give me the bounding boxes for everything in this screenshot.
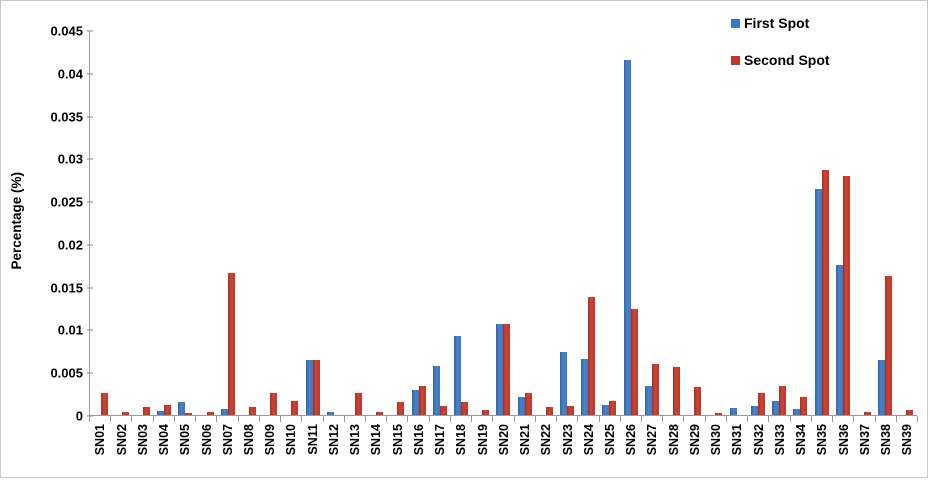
x-axis-tick-mark (365, 416, 366, 422)
bar-group (154, 31, 175, 415)
x-axis-tick-mark (535, 416, 536, 422)
x-axis-label-cell: SN02 (111, 424, 132, 476)
bar-group (111, 31, 132, 415)
bar-first-spot (878, 360, 885, 415)
bar-second-spot (313, 360, 320, 415)
bar-first-spot (815, 189, 822, 415)
x-axis-label-cell: SN28 (663, 424, 684, 476)
bar-second-spot (249, 407, 256, 415)
bar-second-spot (482, 410, 489, 415)
x-axis-tick-mark (896, 416, 897, 422)
bar-first-spot (602, 405, 609, 415)
x-axis-tick-label: SN25 (604, 424, 617, 455)
bar-group (514, 31, 535, 415)
bar-group (408, 31, 429, 415)
x-axis-tick-mark (280, 416, 281, 422)
bar-group (238, 31, 259, 415)
x-axis-tick-label: SN18 (455, 424, 468, 455)
x-axis-tick-label: SN06 (201, 424, 214, 455)
bar-second-spot (694, 387, 701, 415)
x-axis-label-cell: SN34 (791, 424, 812, 476)
x-axis-label-cell: SN14 (366, 424, 387, 476)
bar-first-spot (221, 409, 228, 415)
x-axis-label-cell: SN39 (897, 424, 918, 476)
x-axis-label-cell: SN15 (387, 424, 408, 476)
bar-group (896, 31, 917, 415)
x-axis-tick-label: SN05 (179, 424, 192, 455)
bar-second-spot (143, 407, 150, 415)
x-axis-tick-label: SN14 (370, 424, 383, 455)
x-axis-tick-mark (875, 416, 876, 422)
x-axis-label-cell: SN12 (324, 424, 345, 476)
x-axis-label-cell: SN21 (515, 424, 536, 476)
x-axis-tick-label: SN10 (285, 424, 298, 455)
x-axis-tick-mark (450, 416, 451, 422)
x-axis-tick-label: SN13 (349, 424, 362, 455)
legend-item[interactable]: First Spot (731, 15, 881, 31)
x-axis-tick-label: SN29 (689, 424, 702, 455)
x-axis-tick-mark (726, 416, 727, 422)
bar-second-spot (419, 386, 426, 415)
x-axis-tick-mark (89, 416, 90, 422)
x-axis-tick-label: SN20 (498, 424, 511, 455)
bar-group (599, 31, 620, 415)
x-axis-label-cell: SN07 (217, 424, 238, 476)
bar-group (132, 31, 153, 415)
x-axis-tick-mark (344, 416, 345, 422)
x-axis-label-cell: SN22 (536, 424, 557, 476)
bar-first-spot (730, 408, 737, 415)
bar-group (429, 31, 450, 415)
x-axis-tick-label: SN07 (222, 424, 235, 455)
bar-group (323, 31, 344, 415)
bar-second-spot (822, 170, 829, 415)
bar-group (175, 31, 196, 415)
bar-second-spot (715, 413, 722, 415)
bar-second-spot (588, 297, 595, 415)
bar-first-spot (518, 397, 525, 415)
x-axis-tick-label: SN30 (710, 424, 723, 455)
bar-group (620, 31, 641, 415)
bar-second-spot (228, 273, 235, 416)
bar-second-spot (270, 393, 277, 415)
chart-legend: First SpotSecond Spot (731, 15, 881, 89)
bar-second-spot (101, 393, 108, 415)
bar-first-spot (433, 366, 440, 415)
x-axis-label-cell: SN24 (578, 424, 599, 476)
x-axis-label-cell: SN08 (239, 424, 260, 476)
x-axis-tick-label: SN01 (94, 424, 107, 455)
bar-second-spot (546, 407, 553, 415)
bar-second-spot (906, 410, 913, 415)
x-axis-tick-label: SN17 (434, 424, 447, 455)
x-axis-label-cell: SN36 (833, 424, 854, 476)
x-axis-tick-mark (747, 416, 748, 422)
y-axis-tick-label: 0.015 (50, 281, 83, 294)
bar-group (556, 31, 577, 415)
x-axis-tick-mark (599, 416, 600, 422)
bar-group (641, 31, 662, 415)
x-axis-label-cell: SN32 (748, 424, 769, 476)
x-axis-tick-mark (811, 416, 812, 422)
x-axis-label-cell: SN16 (409, 424, 430, 476)
x-axis-tick-mark (514, 416, 515, 422)
bar-first-spot (306, 360, 313, 415)
x-axis-tick-mark (195, 416, 196, 422)
x-axis-tick-label: SN35 (816, 424, 829, 455)
legend-label: Second Spot (744, 52, 830, 68)
y-axis-tick-label: 0.04 (58, 67, 83, 80)
bar-first-spot (836, 265, 843, 415)
x-axis-tick-mark (556, 416, 557, 422)
bar-group (705, 31, 726, 415)
bar-second-spot (525, 393, 532, 415)
bar-group (684, 31, 705, 415)
bar-first-spot (624, 60, 631, 415)
bar-second-spot (397, 402, 404, 415)
bar-group (281, 31, 302, 415)
x-axis-tick-mark (238, 416, 239, 422)
x-axis-tick-label: SN28 (668, 424, 681, 455)
x-axis-label-cell: SN01 (90, 424, 111, 476)
x-axis-label-cell: SN26 (621, 424, 642, 476)
y-axis-tick-label: 0.005 (50, 367, 83, 380)
bar-group (366, 31, 387, 415)
x-axis-label-cell: SN09 (260, 424, 281, 476)
bar-second-spot (207, 412, 214, 415)
bar-first-spot (751, 406, 758, 415)
bar-second-spot (461, 402, 468, 415)
x-axis-tick-label: SN23 (562, 424, 575, 455)
x-axis-tick-mark (790, 416, 791, 422)
x-axis-tick-mark (768, 416, 769, 422)
x-axis-tick-mark (386, 416, 387, 422)
x-axis-label-cell: SN38 (876, 424, 897, 476)
x-axis-label-cell: SN31 (727, 424, 748, 476)
bar-group (450, 31, 471, 415)
bar-second-spot (779, 386, 786, 415)
x-axis-tick-mark (174, 416, 175, 422)
x-axis-label-cell: SN13 (345, 424, 366, 476)
bar-first-spot (772, 401, 779, 415)
x-axis-tick-mark (577, 416, 578, 422)
bar-group (493, 31, 514, 415)
x-axis-tick-mark (153, 416, 154, 422)
x-axis-label-cell: SN03 (132, 424, 153, 476)
x-axis-tick-mark (323, 416, 324, 422)
bar-group (662, 31, 683, 415)
x-axis-tick-label: SN12 (328, 424, 341, 455)
x-axis-tick-label: SN19 (477, 424, 490, 455)
legend-label: First Spot (744, 15, 809, 31)
x-axis-tick-mark (662, 416, 663, 422)
legend-swatch-icon (731, 19, 740, 28)
bar-first-spot (178, 402, 185, 415)
bar-group (387, 31, 408, 415)
legend-item[interactable]: Second Spot (731, 52, 881, 68)
bar-second-spot (758, 393, 765, 415)
y-axis-tick-labels: 0.0450.040.0350.030.0250.020.0150.010.00… (25, 1, 83, 421)
x-axis-tick-mark (620, 416, 621, 422)
x-axis-tick-mark (407, 416, 408, 422)
y-axis-tick-label: 0.025 (50, 196, 83, 209)
bar-first-spot (645, 386, 652, 415)
y-axis-title-text: Percentage (%) (9, 172, 24, 270)
bar-second-spot (864, 412, 871, 415)
x-axis-label-cell: SN11 (302, 424, 323, 476)
x-axis-label-cell: SN19 (472, 424, 493, 476)
bar-second-spot (185, 413, 192, 415)
bar-first-spot (412, 390, 419, 415)
bar-second-spot (800, 397, 807, 415)
x-axis-tick-label: SN22 (540, 424, 553, 455)
x-axis-tick-mark (917, 416, 918, 422)
bar-second-spot (885, 276, 892, 415)
x-axis-tick-mark (429, 416, 430, 422)
x-axis-tick-label: SN32 (753, 424, 766, 455)
x-axis-label-cell: SN17 (430, 424, 451, 476)
x-axis-tick-mark (641, 416, 642, 422)
bar-second-spot (122, 412, 129, 415)
x-axis-label-cell: SN04 (154, 424, 175, 476)
x-axis-tick-labels: SN01SN02SN03SN04SN05SN06SN07SN08SN09SN10… (90, 424, 918, 476)
y-axis-tick-label: 0.03 (58, 153, 83, 166)
bar-second-spot (652, 364, 659, 415)
y-axis-tick-label: 0.045 (50, 25, 83, 38)
y-axis-tick-label: 0 (76, 410, 83, 423)
bar-second-spot (609, 401, 616, 415)
x-axis-tick-mark (705, 416, 706, 422)
x-axis-label-cell: SN18 (451, 424, 472, 476)
bar-first-spot (793, 409, 800, 415)
x-axis-tick-label: SN27 (646, 424, 659, 455)
y-axis-tick-label: 0.035 (50, 110, 83, 123)
legend-swatch-icon (731, 56, 740, 65)
bar-second-spot (164, 405, 171, 415)
bar-chart: Percentage (%) 0.0450.040.0350.030.0250.… (0, 0, 928, 478)
x-axis-tick-label: SN15 (392, 424, 405, 455)
x-axis-label-cell: SN20 (493, 424, 514, 476)
bar-first-spot (454, 336, 461, 415)
x-axis-tick-label: SN26 (625, 424, 638, 455)
x-axis-tick-label: SN16 (413, 424, 426, 455)
x-axis-label-cell: SN29 (685, 424, 706, 476)
x-axis-label-cell: SN23 (557, 424, 578, 476)
x-axis-tick-mark (832, 416, 833, 422)
x-axis-tick-mark (471, 416, 472, 422)
bar-first-spot (560, 352, 567, 415)
bar-second-spot (503, 324, 510, 415)
bar-group (260, 31, 281, 415)
x-axis-label-cell: SN25 (600, 424, 621, 476)
bar-group (535, 31, 556, 415)
y-axis-tick-label: 0.02 (58, 238, 83, 251)
x-axis-tick-mark (683, 416, 684, 422)
x-axis-tick-label: SN31 (731, 424, 744, 455)
x-axis-tick-mark (853, 416, 854, 422)
bar-group (472, 31, 493, 415)
bar-second-spot (631, 309, 638, 415)
bar-second-spot (843, 176, 850, 415)
bar-group (578, 31, 599, 415)
x-axis-tick-label: SN39 (901, 424, 914, 455)
bar-second-spot (291, 401, 298, 415)
x-axis-tick-label: SN08 (243, 424, 256, 455)
x-axis-label-cell: SN33 (770, 424, 791, 476)
x-axis-tick-label: SN38 (880, 424, 893, 455)
y-axis-tick-label: 0.01 (58, 324, 83, 337)
x-axis-label-cell: SN06 (196, 424, 217, 476)
x-axis-tick-label: SN03 (137, 424, 150, 455)
x-axis-tick-label: SN09 (264, 424, 277, 455)
bar-first-spot (581, 359, 588, 415)
bar-group (302, 31, 323, 415)
bar-second-spot (673, 367, 680, 415)
x-axis-tick-mark (301, 416, 302, 422)
x-axis-label-cell: SN27 (642, 424, 663, 476)
x-axis-label-cell: SN35 (812, 424, 833, 476)
x-axis-tick-label: SN21 (519, 424, 532, 455)
x-axis-tick-mark (110, 416, 111, 422)
x-axis-tick-label: SN33 (774, 424, 787, 455)
x-axis-label-cell: SN05 (175, 424, 196, 476)
x-axis-tick-label: SN02 (116, 424, 129, 455)
bar-group (90, 31, 111, 415)
bar-first-spot (327, 412, 334, 415)
x-axis-tick-label: SN24 (583, 424, 596, 455)
x-axis-label-cell: SN37 (854, 424, 875, 476)
bar-second-spot (376, 412, 383, 415)
x-axis-tick-mark (131, 416, 132, 422)
x-axis-label-cell: SN30 (706, 424, 727, 476)
x-axis-tick-label: SN36 (838, 424, 851, 455)
x-axis-tick-label: SN37 (859, 424, 872, 455)
bar-first-spot (157, 411, 164, 415)
bar-second-spot (567, 406, 574, 415)
bar-second-spot (440, 406, 447, 415)
bar-first-spot (496, 324, 503, 415)
bar-group (217, 31, 238, 415)
x-axis-tick-mark (259, 416, 260, 422)
x-axis-tick-mark (216, 416, 217, 422)
x-axis-label-cell: SN10 (281, 424, 302, 476)
x-axis-tick-mark (492, 416, 493, 422)
bar-group (196, 31, 217, 415)
x-axis-tick-label: SN04 (158, 424, 171, 455)
x-axis-tick-label: SN34 (795, 424, 808, 455)
bar-second-spot (355, 393, 362, 415)
x-axis-tick-marks (89, 416, 917, 423)
bar-group (344, 31, 365, 415)
x-axis-tick-label: SN11 (307, 424, 320, 455)
